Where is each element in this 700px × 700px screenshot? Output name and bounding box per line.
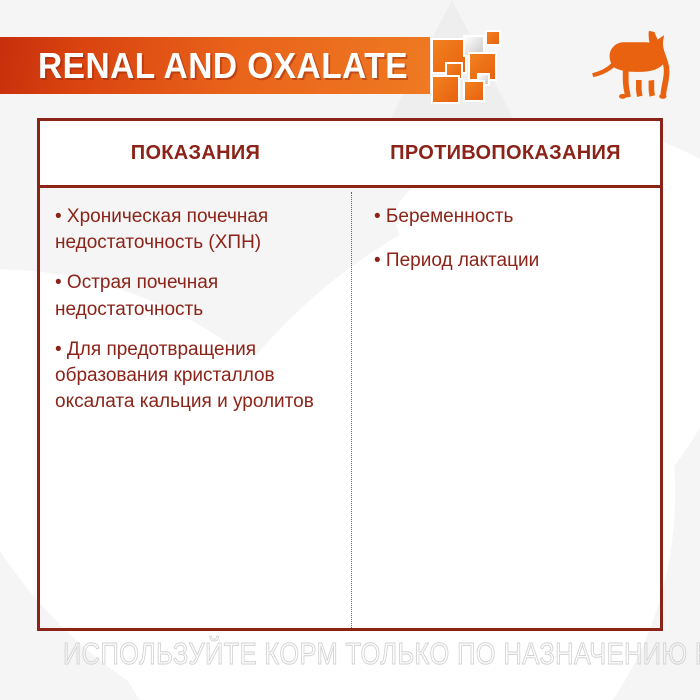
column-header-indications: ПОКАЗАНИЯ <box>40 121 351 185</box>
column-header-contraindications: ПРОТИВОПОКАЗАНИЯ <box>351 121 660 185</box>
column-divider <box>351 192 352 628</box>
list-item: • Период лактации <box>374 248 650 274</box>
list-item: • Хроническая почечная недостаточность (… <box>55 204 343 256</box>
header: RENAL AND OXALATE <box>0 0 700 120</box>
list-item: • Для предотвращения образования кристал… <box>55 337 343 416</box>
decorative-square-orange-5 <box>431 75 460 104</box>
title-bar: RENAL AND OXALATE <box>0 37 430 94</box>
contraindications-column: • Беременность • Период лактации <box>351 188 660 632</box>
table-body: • Хроническая почечная недостаточность (… <box>40 188 660 632</box>
indications-table: ПОКАЗАНИЯ ПРОТИВОПОКАЗАНИЯ • Хроническая… <box>37 118 663 631</box>
poster-canvas: RENAL AND OXALATE ПОКАЗАНИЯ ПРОТИВОПОКАЗ… <box>0 0 700 700</box>
indications-column: • Хроническая почечная недостаточность (… <box>40 188 351 632</box>
list-item: • Беременность <box>374 204 650 230</box>
page-title: RENAL AND OXALATE <box>38 45 408 87</box>
list-item: • Острая почечная недостаточность <box>55 270 343 322</box>
decorative-square-orange-6 <box>463 80 485 102</box>
decorative-square-orange-2 <box>485 30 501 46</box>
footer-disclaimer: ИСПОЛЬЗУЙТЕ КОРМ ТОЛЬКО ПО НАЗНАЧЕНИЮ ВР… <box>63 636 637 672</box>
cat-silhouette-icon <box>592 28 682 100</box>
table-header-row: ПОКАЗАНИЯ ПРОТИВОПОКАЗАНИЯ <box>40 121 660 188</box>
